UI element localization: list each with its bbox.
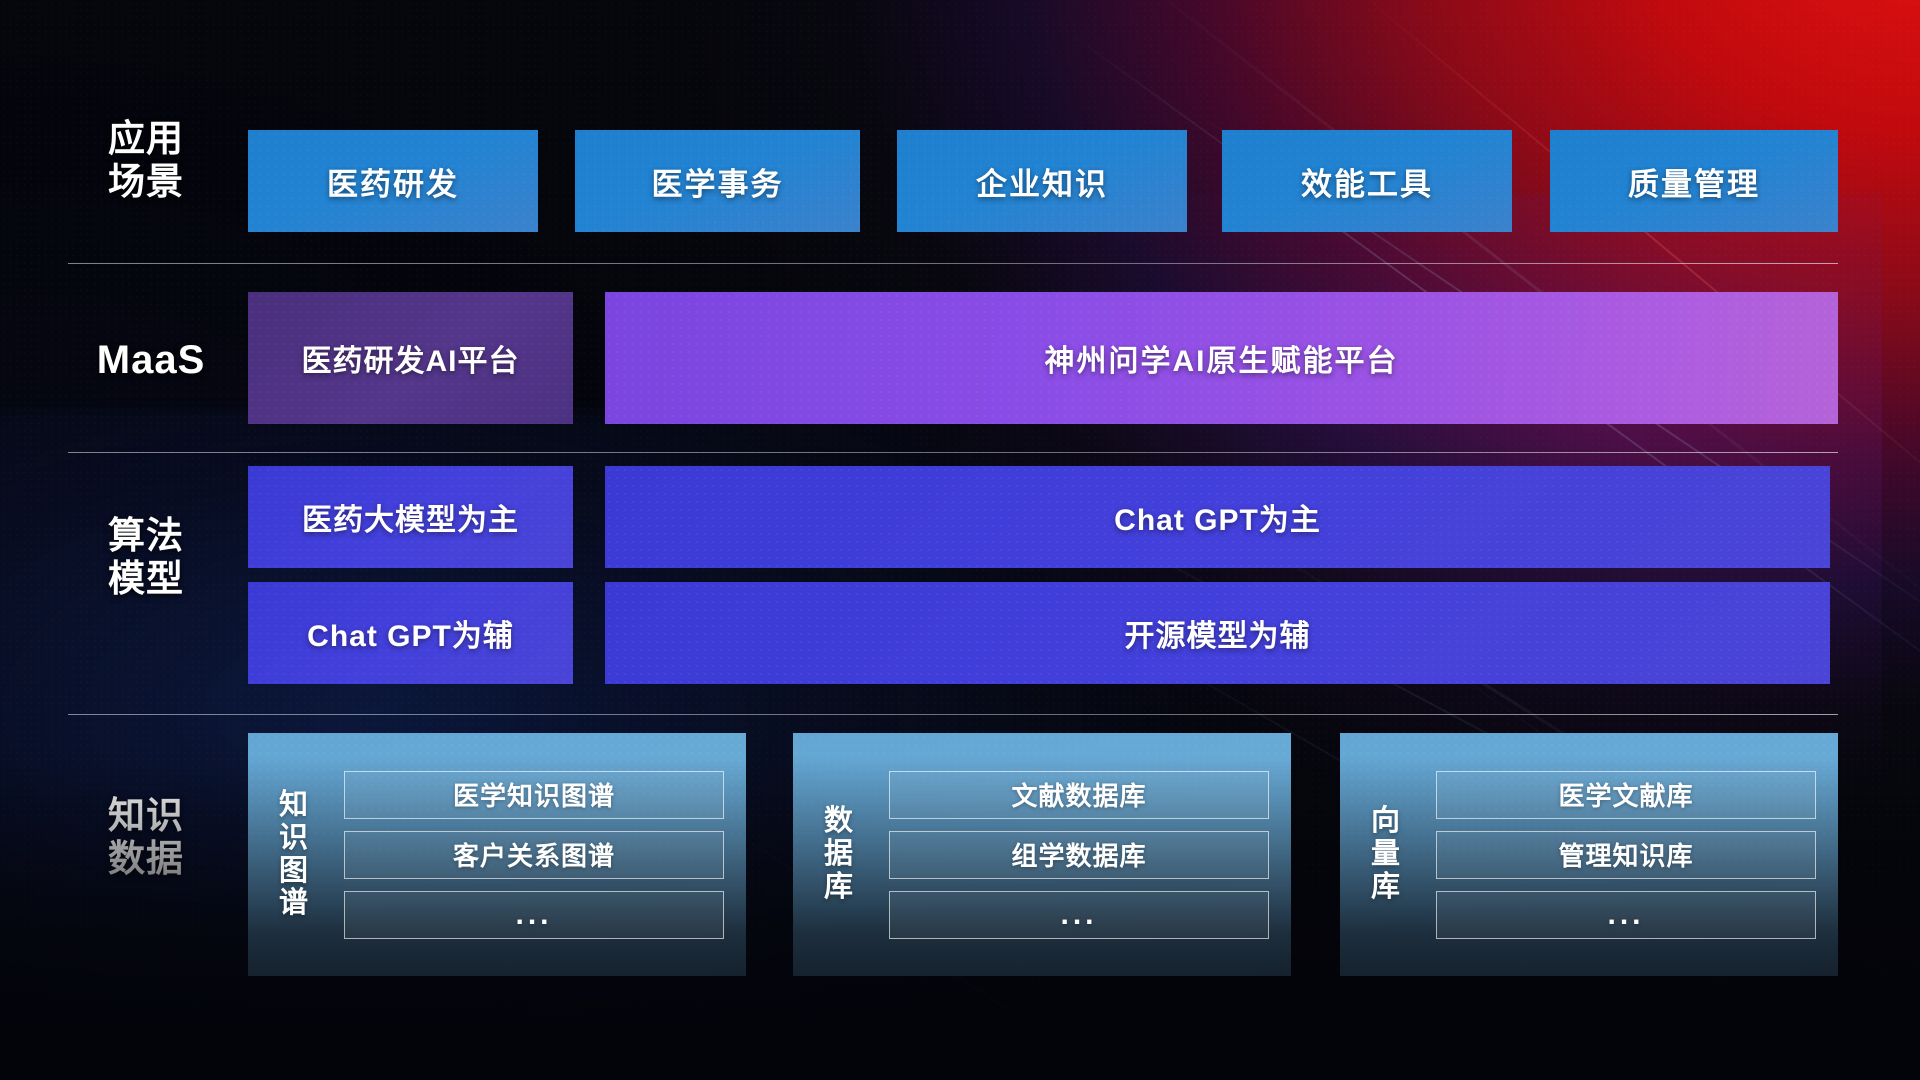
maas-box-pharma-platform[interactable]: 医药研发AI平台 [248, 292, 573, 424]
app-box-2-label: 医学事务 [652, 159, 784, 204]
knowledge-panel-vector-label: 向 量 库 [1340, 733, 1432, 976]
knowledge-panel-database-items: 文献数据库 组学数据库 ... [885, 733, 1291, 976]
knowledge-item[interactable]: ... [889, 891, 1269, 939]
knowledge-item[interactable]: 客户关系图谱 [344, 831, 724, 879]
algo-box-opensource-secondary-label: 开源模型为辅 [1125, 611, 1311, 655]
divider-application-maas [68, 263, 1838, 264]
app-box-2[interactable]: 医学事务 [575, 130, 860, 232]
knowledge-panel-database: 数 据 库 文献数据库 组学数据库 ... [793, 733, 1291, 976]
divider-maas-algorithm [68, 452, 1838, 453]
row-label-application: 应用 场景 [66, 118, 226, 204]
divider-algorithm-knowledge [68, 714, 1838, 715]
app-box-4-label: 效能工具 [1301, 159, 1433, 204]
app-box-1-label: 医药研发 [327, 159, 459, 204]
row-label-maas: MaaS [66, 337, 236, 383]
knowledge-item[interactable]: 医学知识图谱 [344, 771, 724, 819]
maas-box-enablement-platform[interactable]: 神州问学AI原生赋能平台 [605, 292, 1838, 424]
algo-box-pharma-primary-label: 医药大模型为主 [302, 495, 519, 539]
knowledge-panel-graph: 知 识 图 谱 医学知识图谱 客户关系图谱 ... [248, 733, 746, 976]
knowledge-item[interactable]: ... [344, 891, 724, 939]
maas-box-enablement-platform-label: 神州问学AI原生赋能平台 [1045, 336, 1399, 380]
algo-box-opensource-secondary[interactable]: 开源模型为辅 [605, 582, 1830, 684]
app-box-4[interactable]: 效能工具 [1222, 130, 1512, 232]
knowledge-panel-graph-items: 医学知识图谱 客户关系图谱 ... [340, 733, 746, 976]
knowledge-item[interactable]: 医学文献库 [1436, 771, 1816, 819]
algo-box-chatgpt-primary[interactable]: Chat GPT为主 [605, 466, 1830, 568]
app-box-3[interactable]: 企业知识 [897, 130, 1187, 232]
app-box-5-label: 质量管理 [1628, 159, 1760, 204]
algo-box-pharma-primary[interactable]: 医药大模型为主 [248, 466, 573, 568]
app-box-1[interactable]: 医药研发 [248, 130, 538, 232]
architecture-diagram: 应用 场景 医药研发 医学事务 企业知识 效能工具 质量管理 MaaS 医药研发… [0, 0, 1920, 1080]
knowledge-item[interactable]: ... [1436, 891, 1816, 939]
knowledge-panel-vector-items: 医学文献库 管理知识库 ... [1432, 733, 1838, 976]
app-box-3-label: 企业知识 [976, 159, 1108, 204]
knowledge-panel-database-label: 数 据 库 [793, 733, 885, 976]
algo-box-chatgpt-primary-label: Chat GPT为主 [1114, 495, 1321, 539]
maas-box-pharma-platform-label: 医药研发AI平台 [302, 336, 520, 380]
knowledge-item[interactable]: 管理知识库 [1436, 831, 1816, 879]
algo-box-chatgpt-secondary-label: Chat GPT为辅 [307, 611, 514, 655]
knowledge-panel-graph-label: 知 识 图 谱 [248, 733, 340, 976]
knowledge-panel-vector: 向 量 库 医学文献库 管理知识库 ... [1340, 733, 1838, 976]
row-label-algorithm: 算法 模型 [66, 515, 226, 601]
knowledge-item[interactable]: 组学数据库 [889, 831, 1269, 879]
knowledge-item[interactable]: 文献数据库 [889, 771, 1269, 819]
app-box-5[interactable]: 质量管理 [1550, 130, 1838, 232]
algo-box-chatgpt-secondary[interactable]: Chat GPT为辅 [248, 582, 573, 684]
